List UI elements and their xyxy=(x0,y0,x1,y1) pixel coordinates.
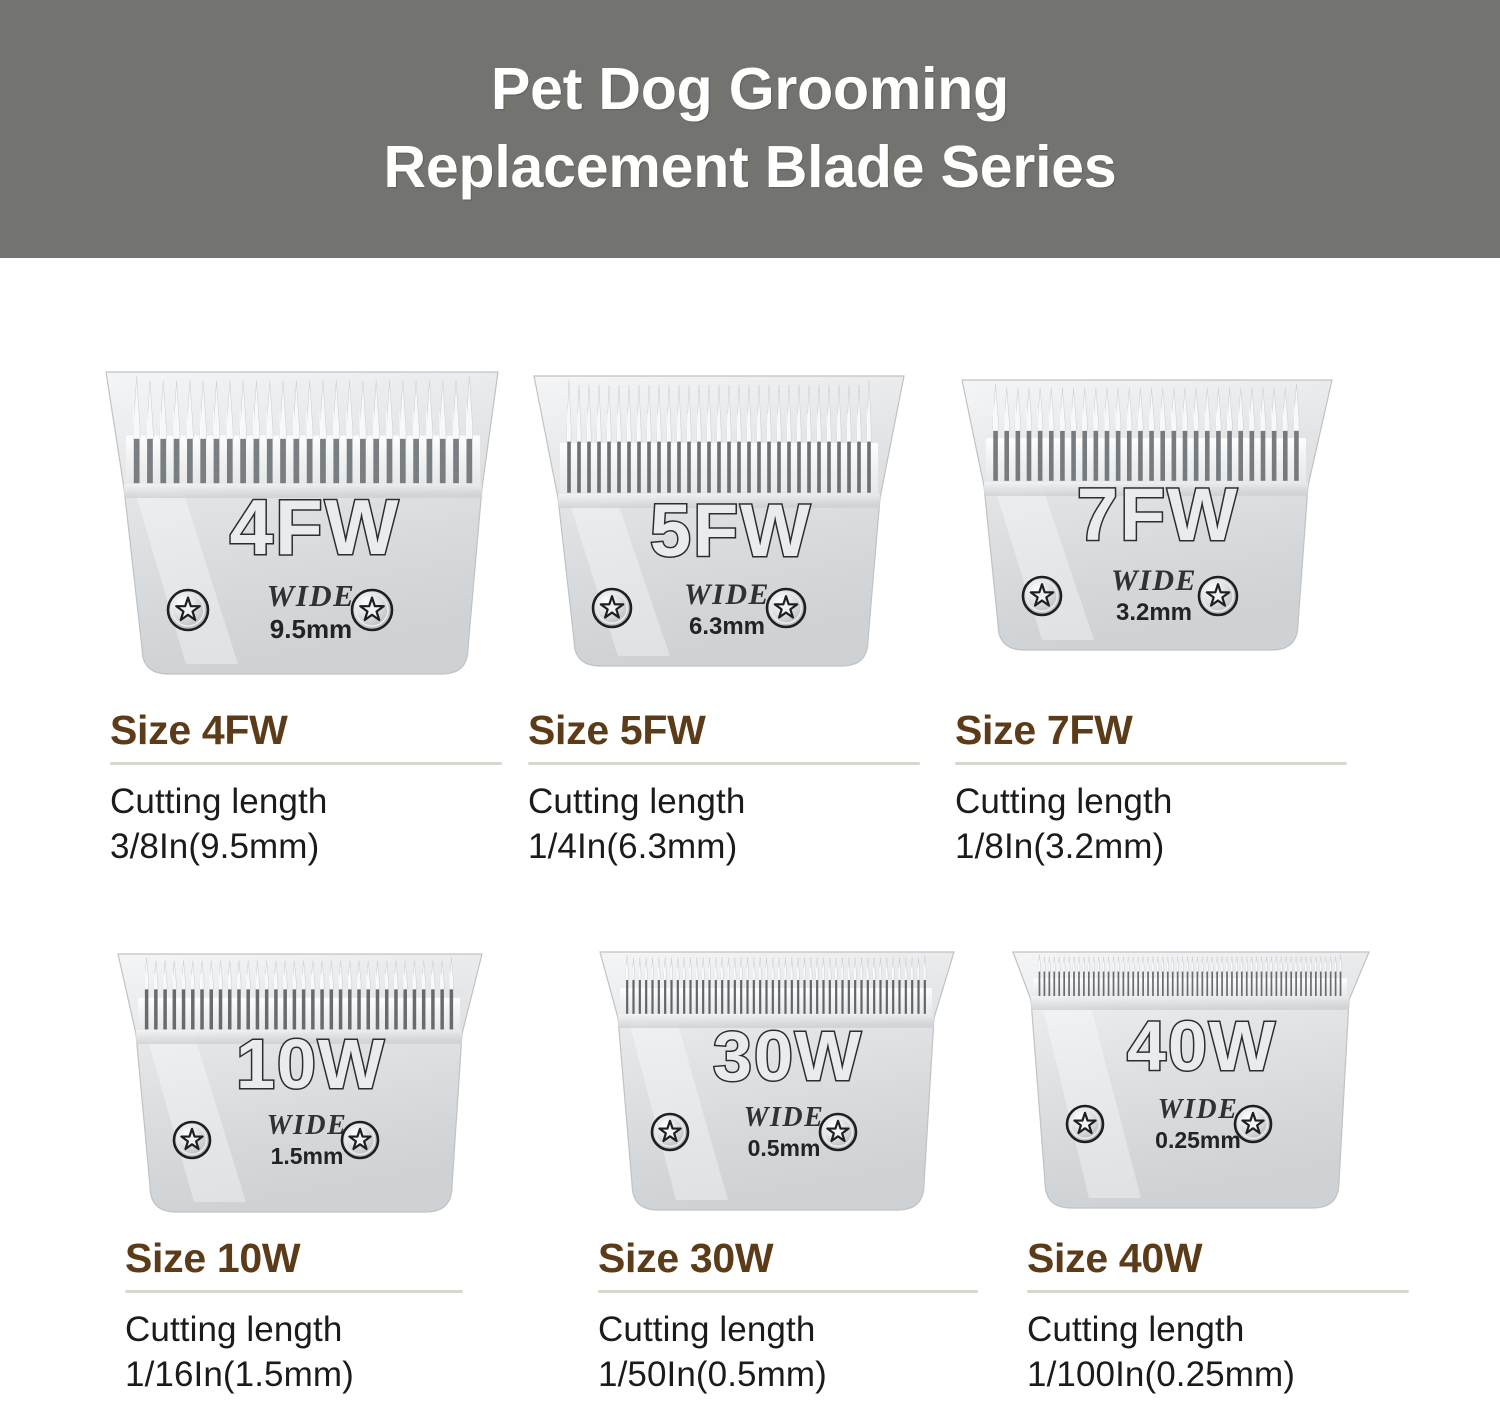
caption-rule xyxy=(598,1290,978,1293)
caption-title: Size 4FW xyxy=(110,710,502,751)
caption-body: Cutting length 1/4In(6.3mm) xyxy=(528,780,920,870)
caption-body: Cutting length 1/16In(1.5mm) xyxy=(125,1308,463,1398)
blade-engraved-size: 5FW xyxy=(650,489,812,572)
blade-engraved-mm: 1.5mm xyxy=(271,1143,344,1169)
product-card-7fw[interactable]: 7FWWIDE3.2mm Size 7FW Cutting length 1/8… xyxy=(950,358,1342,658)
blade-screw-left xyxy=(1023,577,1061,615)
caption-line-2: 3/8In(9.5mm) xyxy=(110,825,502,870)
blade-image-5fw: 5FWWIDE6.3mm xyxy=(520,358,916,678)
blade-engraved-size: 7FW xyxy=(1077,473,1239,556)
product-row-1: 4FWWIDE9.5mm Size 4FW Cutting length 3/8… xyxy=(0,358,1500,918)
blade-image-40w: 40WWIDE0.25mm xyxy=(1005,938,1375,1216)
blade-screw-left xyxy=(174,1122,210,1158)
blade-engraved-size: 10W xyxy=(236,1025,386,1103)
caption-line-2: 1/50In(0.5mm) xyxy=(598,1353,978,1398)
blade-screw-left xyxy=(652,1114,688,1150)
blade-screw-right xyxy=(1235,1106,1271,1142)
blade-engraved-size: 4FW xyxy=(230,483,401,571)
blade-engraved-wide: WIDE xyxy=(744,1102,825,1133)
caption-line-1: Cutting length xyxy=(1027,1308,1409,1353)
caption-line-1: Cutting length xyxy=(110,780,502,825)
caption-rule xyxy=(528,762,920,765)
blade-screw-right xyxy=(1199,577,1237,615)
blade-screw-right xyxy=(352,590,392,630)
blade-screw-right xyxy=(342,1122,378,1158)
page-title-line-2: Replacement Blade Series xyxy=(383,129,1116,207)
caption-title: Size 30W xyxy=(598,1238,978,1279)
caption-line-1: Cutting length xyxy=(598,1308,978,1353)
blade-screw-right xyxy=(820,1114,856,1150)
blade-engraved-wide: WIDE xyxy=(684,578,770,611)
caption-4fw: Size 4FW Cutting length 3/8In(9.5mm) xyxy=(110,710,502,870)
caption-5fw: Size 5FW Cutting length 1/4In(6.3mm) xyxy=(528,710,920,870)
caption-rule xyxy=(110,762,502,765)
product-card-30w[interactable]: 30WWIDE0.5mm Size 30W Cutting length 1/5… xyxy=(590,938,962,1218)
caption-title: Size 10W xyxy=(125,1238,463,1279)
caption-title: Size 5FW xyxy=(528,710,920,751)
blade-engraved-mm: 9.5mm xyxy=(270,614,352,644)
caption-line-2: 1/8In(3.2mm) xyxy=(955,825,1347,870)
blade-engraved-wide: WIDE xyxy=(267,578,356,613)
blade-screw-left xyxy=(1067,1106,1103,1142)
blade-engraved-wide: WIDE xyxy=(1158,1094,1239,1125)
caption-line-2: 1/16In(1.5mm) xyxy=(125,1353,463,1398)
blade-engraved-mm: 3.2mm xyxy=(1116,599,1192,626)
blade-image-10w: 10WWIDE1.5mm xyxy=(110,938,488,1220)
caption-rule xyxy=(955,762,1347,765)
product-card-10w[interactable]: 10WWIDE1.5mm Size 10W Cutting length 1/1… xyxy=(110,938,488,1220)
caption-line-1: Cutting length xyxy=(955,780,1347,825)
blade-screw-left xyxy=(593,589,631,627)
caption-line-1: Cutting length xyxy=(528,780,920,825)
product-card-40w[interactable]: 40WWIDE0.25mm Size 40W Cutting length 1/… xyxy=(1005,938,1375,1216)
caption-30w: Size 30W Cutting length 1/50In(0.5mm) xyxy=(598,1238,978,1398)
blade-engraved-mm: 0.25mm xyxy=(1155,1127,1241,1153)
caption-title: Size 40W xyxy=(1027,1238,1409,1279)
caption-rule xyxy=(1027,1290,1409,1293)
blade-engraved-mm: 6.3mm xyxy=(689,613,765,640)
caption-line-1: Cutting length xyxy=(125,1308,463,1353)
caption-body: Cutting length 1/100In(0.25mm) xyxy=(1027,1308,1409,1398)
blade-image-7fw: 7FWWIDE3.2mm xyxy=(950,358,1342,658)
blade-screw-left xyxy=(168,590,208,630)
product-card-4fw[interactable]: 4FWWIDE9.5mm Size 4FW Cutting length 3/8… xyxy=(100,358,500,688)
blade-engraved-wide: WIDE xyxy=(1111,564,1197,597)
caption-10w: Size 10W Cutting length 1/16In(1.5mm) xyxy=(125,1238,463,1398)
caption-body: Cutting length 1/8In(3.2mm) xyxy=(955,780,1347,870)
header-banner: Pet Dog Grooming Replacement Blade Serie… xyxy=(0,0,1500,258)
caption-title: Size 7FW xyxy=(955,710,1347,751)
blade-engraved-mm: 0.5mm xyxy=(748,1135,821,1161)
page-title: Pet Dog Grooming Replacement Blade Serie… xyxy=(383,51,1116,207)
blade-engraved-size: 40W xyxy=(1127,1007,1277,1085)
blade-image-30w: 30WWIDE0.5mm xyxy=(590,938,962,1218)
caption-rule xyxy=(125,1290,463,1293)
blade-screw-right xyxy=(767,589,805,627)
caption-body: Cutting length 1/50In(0.5mm) xyxy=(598,1308,978,1398)
caption-line-2: 1/4In(6.3mm) xyxy=(528,825,920,870)
caption-40w: Size 40W Cutting length 1/100In(0.25mm) xyxy=(1027,1238,1409,1398)
product-grid: 4FWWIDE9.5mm Size 4FW Cutting length 3/8… xyxy=(0,258,1500,1408)
product-card-5fw[interactable]: 5FWWIDE6.3mm Size 5FW Cutting length 1/4… xyxy=(520,358,916,678)
product-row-2: 10WWIDE1.5mm Size 10W Cutting length 1/1… xyxy=(0,938,1500,1408)
blade-image-4fw: 4FWWIDE9.5mm xyxy=(100,358,500,688)
page-title-line-1: Pet Dog Grooming xyxy=(491,56,1009,122)
blade-engraved-wide: WIDE xyxy=(267,1110,348,1141)
caption-line-2: 1/100In(0.25mm) xyxy=(1027,1353,1409,1398)
caption-7fw: Size 7FW Cutting length 1/8In(3.2mm) xyxy=(955,710,1347,870)
blade-engraved-size: 30W xyxy=(713,1017,863,1095)
caption-body: Cutting length 3/8In(9.5mm) xyxy=(110,780,502,870)
